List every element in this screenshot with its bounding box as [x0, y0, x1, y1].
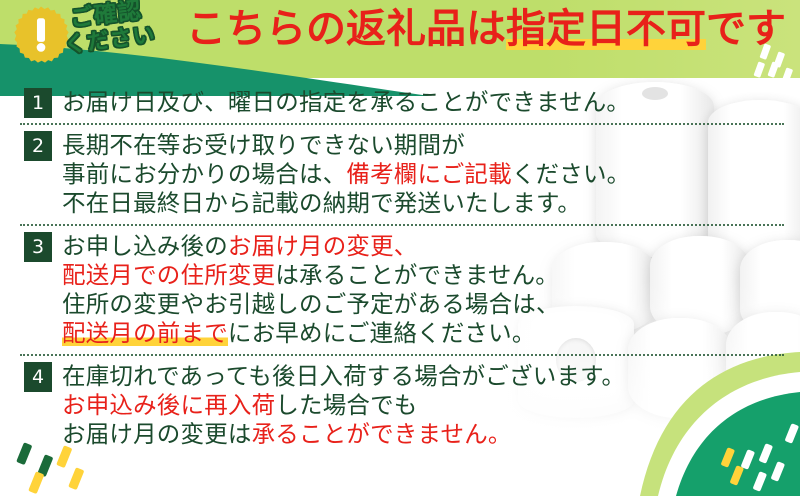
notice-text-segment: 事前にお分かりの場合は、 — [62, 160, 346, 188]
notice-text-segment: は承ることができません。 — [275, 261, 559, 289]
title-prefix: こちらの返礼品は — [186, 6, 506, 52]
notice-item-number-badge: 1 — [24, 88, 52, 118]
notice-banner: ご確認 ください こちらの返礼品は指定日不可です 1お届け日及び、曜日の指定を承… — [0, 0, 800, 496]
notice-line: お届け日及び、曜日の指定を承ることができません。 — [62, 88, 800, 117]
notice-item-number-badge: 4 — [24, 362, 52, 392]
notice-item-text: お届け日及び、曜日の指定を承ることができません。 — [62, 88, 800, 117]
notice-line: 配送月での住所変更は承ることができません。 — [62, 261, 800, 290]
exclamation-mark — [37, 18, 46, 51]
notice-item-text: お申し込み後のお届け月の変更、配送月での住所変更は承ることができません。住所の変… — [62, 232, 800, 348]
notice-list: 1お届け日及び、曜日の指定を承ることができません。2長期不在等お受け取りできない… — [0, 88, 800, 449]
notice-item-text: 長期不在等お受け取りできない期間が事前にお分かりの場合は、備考欄にご記載ください… — [62, 131, 800, 218]
notice-line: お申し込み後のお届け月の変更、 — [62, 232, 800, 261]
notice-separator — [20, 354, 784, 356]
notice-line: 不在日最終日から記載の納期で発送いたします。 — [62, 189, 800, 218]
notice-text-segment: 承ることができません。 — [252, 420, 512, 448]
notice-line: 配送月の前までにお早めにご連絡ください。 — [62, 319, 800, 348]
notice-text-segment: お届け月の変更、 — [228, 232, 418, 260]
notice-text-segment: 不在日最終日から記載の納期で発送いたします。 — [62, 189, 581, 217]
notice-text-segment: した場合でも — [275, 391, 417, 419]
notice-item-text: 在庫切れであっても後日入荷する場合がございます。お申込み後に再入荷した場合でもお… — [62, 362, 800, 449]
notice-item-3: 3お申し込み後のお届け月の変更、配送月での住所変更は承ることができません。住所の… — [0, 232, 800, 348]
notice-text-segment: お申し込み後の — [62, 232, 228, 260]
notice-item-number-badge: 2 — [24, 131, 52, 161]
notice-text-segment: 備考欄にご記載 — [346, 160, 511, 188]
notice-separator — [20, 123, 784, 125]
notice-separator — [20, 224, 784, 226]
notice-text-segment: にお早めにご連絡ください。 — [228, 319, 536, 347]
notice-item-2: 2長期不在等お受け取りできない期間が事前にお分かりの場合は、備考欄にご記載くださ… — [0, 131, 800, 218]
notice-text-segment: 長期不在等お受け取りできない期間が — [62, 131, 465, 159]
notice-text-segment: お届け月の変更は — [62, 420, 252, 448]
notice-text-segment: お届け日及び、曜日の指定を承ることができません。 — [62, 88, 630, 116]
title-highlight: 指定日不可 — [506, 6, 706, 52]
notice-line: 長期不在等お受け取りできない期間が — [62, 131, 800, 160]
notice-text-segment: お申込み後に再入荷 — [62, 391, 275, 419]
notice-line: 在庫切れであっても後日入荷する場合がございます。 — [62, 362, 800, 391]
notice-line: 住所の変更やお引越しのご予定がある場合は、 — [62, 290, 800, 319]
notice-text-segment: 配送月での住所変更 — [62, 261, 275, 289]
notice-item-number-badge: 3 — [24, 232, 52, 262]
notice-text-segment: ください。 — [512, 160, 631, 188]
notice-line: 事前にお分かりの場合は、備考欄にご記載ください。 — [62, 160, 800, 189]
notice-item-4: 4在庫切れであっても後日入荷する場合がございます。お申込み後に再入荷した場合でも… — [0, 362, 800, 449]
page-title: こちらの返礼品は指定日不可です — [186, 8, 786, 50]
check-label: ご確認 ください — [64, 4, 172, 64]
notice-item-1: 1お届け日及び、曜日の指定を承ることができません。 — [0, 88, 800, 117]
notice-text-segment: 住所の変更やお引越しのご予定がある場合は、 — [62, 290, 560, 318]
notice-text-segment: 在庫切れであっても後日入荷する場合がございます。 — [62, 362, 625, 390]
notice-text-segment: 配送月の前まで — [62, 319, 228, 347]
notice-line: お申込み後に再入荷した場合でも — [62, 391, 800, 420]
title-suffix: です — [706, 6, 786, 52]
notice-line: お届け月の変更は承ることができません。 — [62, 420, 800, 449]
